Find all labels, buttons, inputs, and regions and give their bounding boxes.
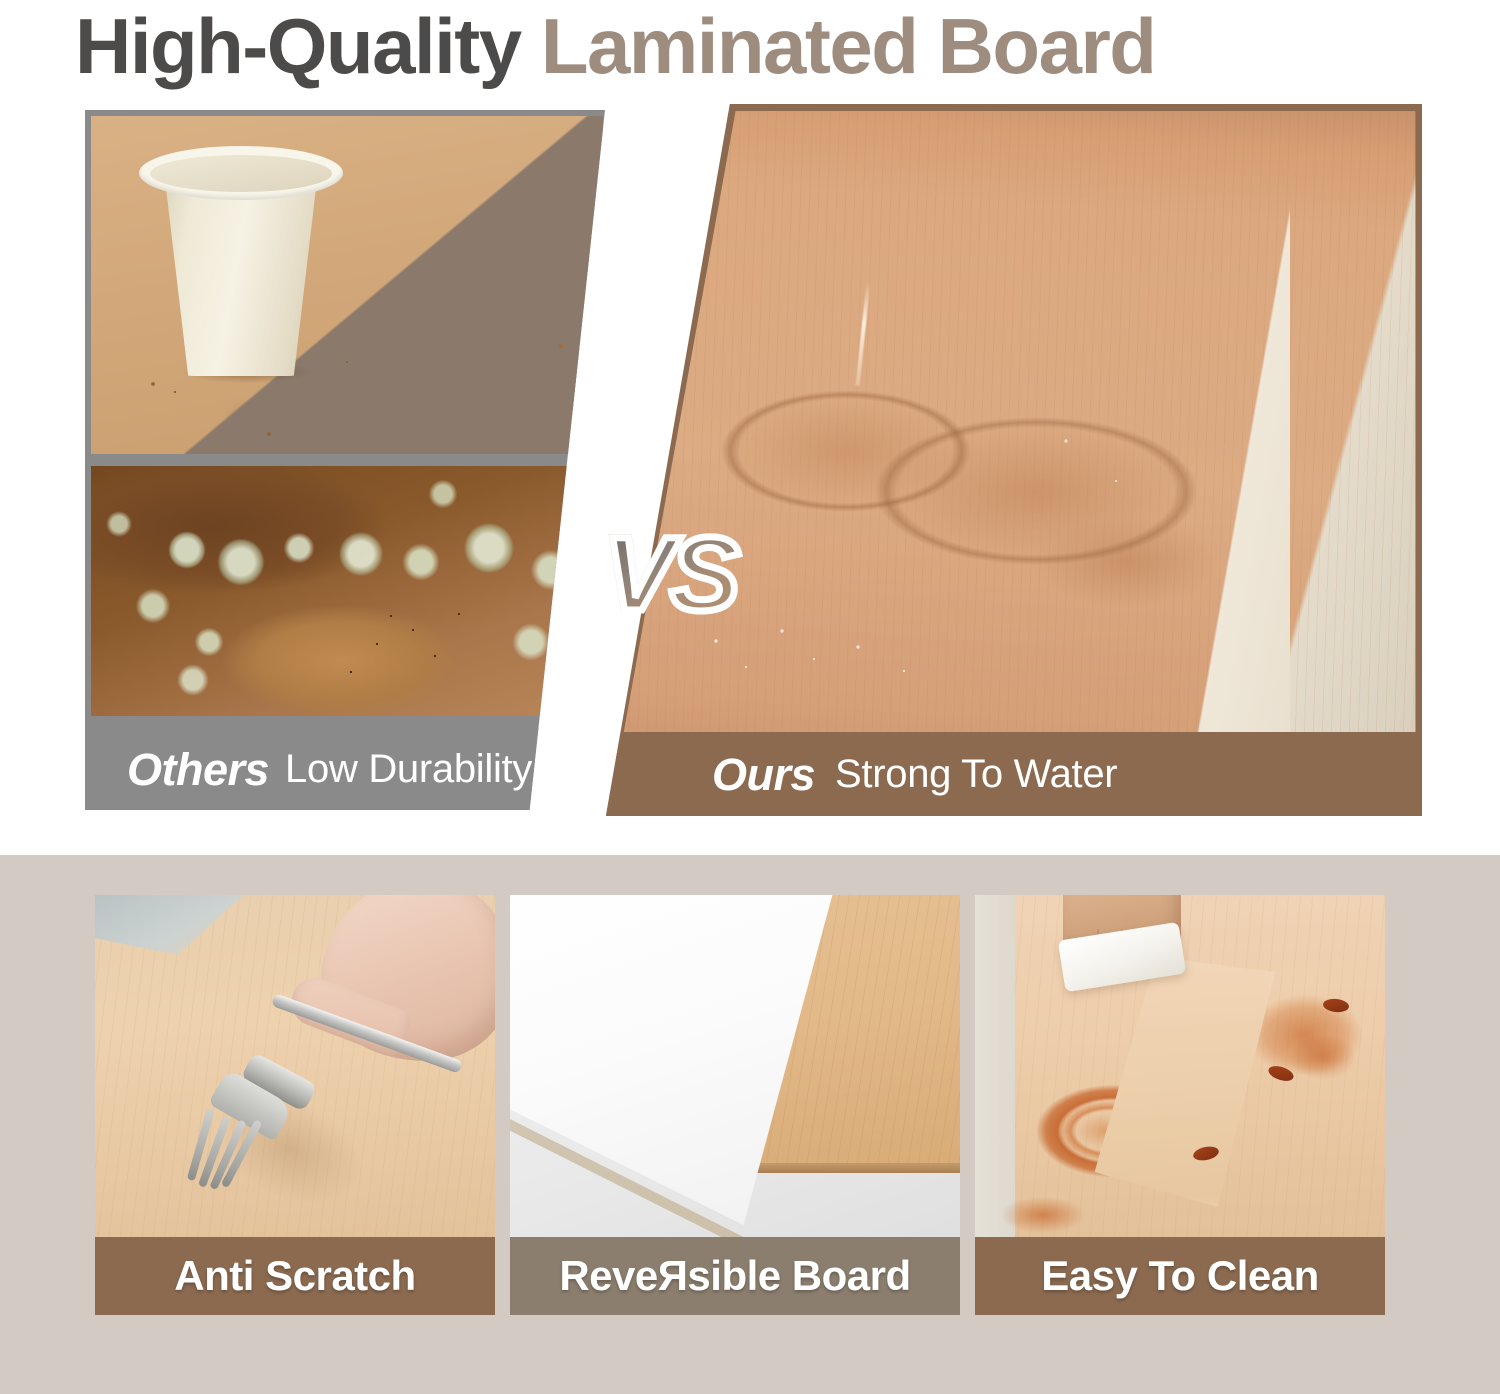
others-photo-stack	[91, 116, 599, 810]
cup-rim	[139, 146, 343, 200]
ours-panel: Ours Strong To Water	[596, 104, 1422, 816]
mold-photo	[91, 466, 603, 716]
others-label-bar: Others Low Durability	[85, 728, 605, 810]
feature-card-row: Anti Scratch ReveЯsible Board	[95, 895, 1415, 1315]
feature-card-easy-to-clean: Easy To Clean	[975, 895, 1385, 1315]
feature-label-bar: Anti Scratch	[95, 1237, 495, 1315]
feature-label-text: Anti Scratch	[174, 1252, 415, 1300]
feature-label-bar: Easy To Clean	[975, 1237, 1385, 1315]
title-part-one: High-Quality	[75, 2, 521, 90]
comparison-section: Others Low Durability Ours Strong To Wat…	[0, 98, 1500, 836]
feature-card-anti-scratch: Anti Scratch	[95, 895, 495, 1315]
water-beads	[596, 111, 1422, 809]
water-beading-photo	[596, 111, 1422, 809]
vs-badge: VS	[604, 522, 736, 627]
feature-label-text: Easy To Clean	[1041, 1252, 1319, 1300]
ours-name: Ours	[712, 752, 815, 797]
features-section: Anti Scratch ReveЯsible Board	[0, 855, 1500, 1394]
feature-label-text: ReveЯsible Board	[559, 1252, 910, 1300]
ours-label-bar: Ours Strong To Water	[596, 732, 1422, 816]
coffee-spill-photo	[91, 116, 603, 454]
feature-label-bar: ReveЯsible Board	[510, 1237, 960, 1315]
header: High-Quality Laminated Board	[0, 0, 1500, 98]
others-claim: Low Durability	[285, 749, 532, 789]
mold-growth	[91, 466, 603, 716]
ours-claim: Strong To Water	[835, 754, 1117, 794]
others-name: Others	[127, 747, 269, 792]
white-side-board	[510, 895, 834, 1225]
title-part-two: Laminated Board	[541, 2, 1156, 90]
feature-card-reversible-board: ReveЯsible Board	[510, 895, 960, 1315]
page-title: High-Quality Laminated Board	[75, 0, 1155, 94]
others-panel: Others Low Durability	[85, 110, 605, 810]
